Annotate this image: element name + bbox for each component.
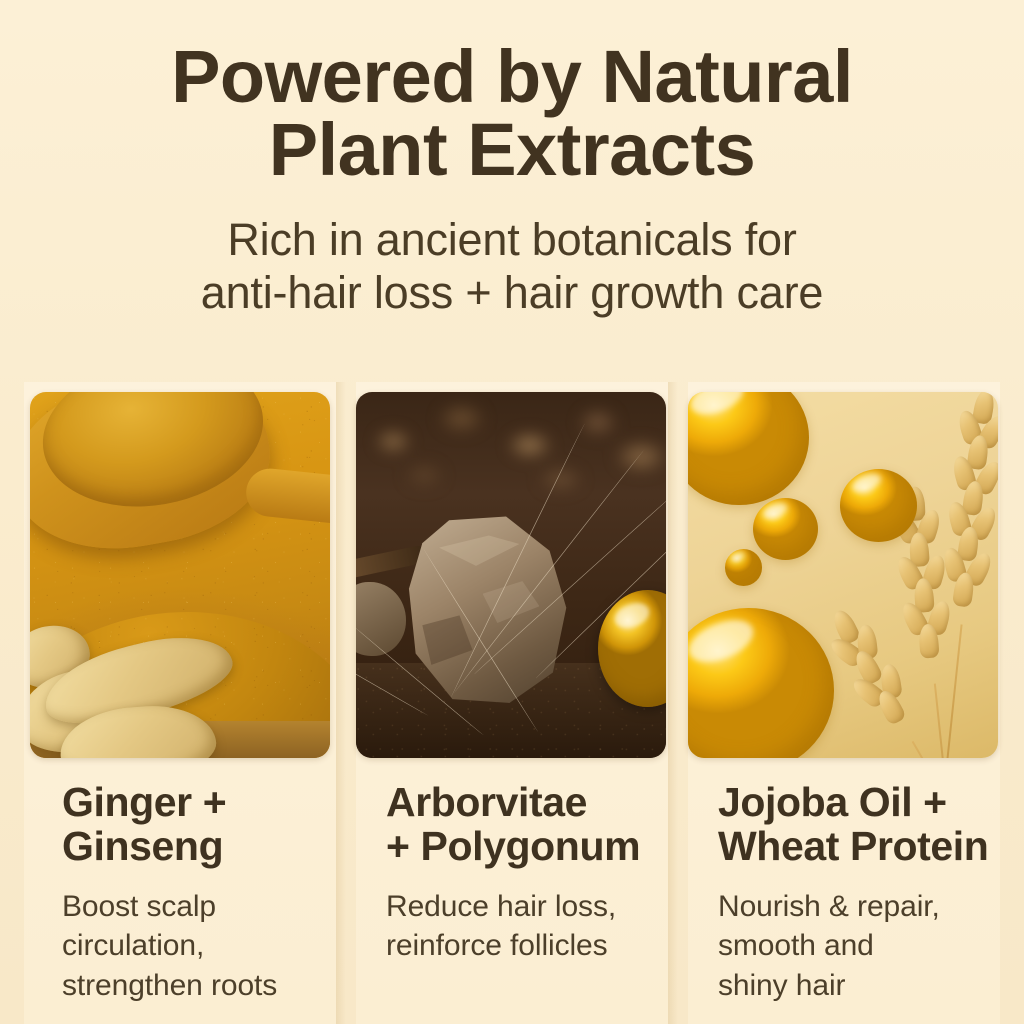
arborvitae-polygonum-photo [356, 392, 666, 758]
oil-droplet-4 [725, 549, 762, 586]
droplet-highlight [688, 611, 760, 670]
card-title: Ginger + Ginseng [62, 780, 338, 869]
poster-header: Powered by Natural Plant Extracts Rich i… [0, 40, 1024, 319]
card-desc-line-2: reinforce follicles [386, 929, 608, 962]
wheat-grain [874, 687, 907, 726]
droplet-highlight [849, 470, 884, 497]
page-subtitle: Rich in ancient botanicals for anti-hair… [0, 213, 1024, 319]
card-description: Boost scalp circulation, strengthen root… [62, 887, 330, 1007]
card-desc-line-1: Boost scalp [62, 890, 216, 923]
droplet-highlight [729, 550, 746, 563]
ingredient-benefits-poster: Powered by Natural Plant Extracts Rich i… [0, 0, 1024, 1024]
card-title-line-2: Wheat Protein [718, 824, 994, 868]
card-desc-line-2: smooth and [718, 929, 874, 962]
ingredient-card-jojoba-wheat: Jojoba Oil + Wheat Protein Nourish & rep… [688, 382, 1000, 1024]
page-title: Powered by Natural Plant Extracts [0, 40, 1024, 187]
card-desc-line-2: circulation, [62, 929, 204, 962]
turmeric-ginger-photo [30, 392, 330, 758]
oil-droplet-3 [840, 469, 918, 542]
oil-droplet-1 [688, 392, 809, 505]
card-desc-line-3: shiny hair [718, 969, 845, 1002]
card-title-line-1: Ginger + [62, 779, 226, 825]
ingredient-card-ginger-ginseng: Ginger + Ginseng Boost scalp circulation… [24, 382, 336, 1024]
card-desc-line-1: Reduce hair loss, [386, 890, 616, 923]
ingredient-card-arborvitae-polygonum: Arborvitae + Polygonum Reduce hair loss,… [356, 382, 668, 1024]
oil-droplet-2 [753, 498, 818, 560]
card-desc-line-1: Nourish & repair, [718, 890, 940, 923]
card-title-line-1: Jojoba Oil + [718, 779, 947, 825]
subhead-line-1: Rich in ancient botanicals for [227, 214, 796, 265]
card-title: Jojoba Oil + Wheat Protein [718, 780, 994, 869]
subhead-line-2: anti-hair loss + hair growth care [60, 266, 964, 319]
wheat-stem-3 [912, 741, 957, 758]
droplet-highlight [761, 499, 790, 521]
headline-line-2: Plant Extracts [50, 113, 974, 186]
card-title-line-1: Arborvitae [386, 779, 587, 825]
jojoba-wheat-photo [688, 392, 998, 758]
stone-facet-1 [439, 535, 519, 565]
card-title-line-2: Ginseng [62, 824, 338, 868]
card-title: Arborvitae + Polygonum [386, 780, 662, 869]
oil-droplet-5 [688, 608, 834, 758]
small-rock-shape [356, 582, 406, 655]
card-description: Nourish & repair, smooth and shiny hair [718, 887, 986, 1007]
ingredient-card-list: Ginger + Ginseng Boost scalp circulation… [0, 382, 1024, 1024]
card-description: Reduce hair loss, reinforce follicles [386, 887, 654, 967]
droplet-highlight-shape [611, 598, 653, 632]
card-desc-line-3: strengthen roots [62, 969, 277, 1002]
stone-facet-3 [422, 615, 472, 664]
headline-line-1: Powered by Natural [171, 35, 853, 118]
card-title-line-2: + Polygonum [386, 824, 662, 868]
droplet-highlight [688, 392, 748, 421]
